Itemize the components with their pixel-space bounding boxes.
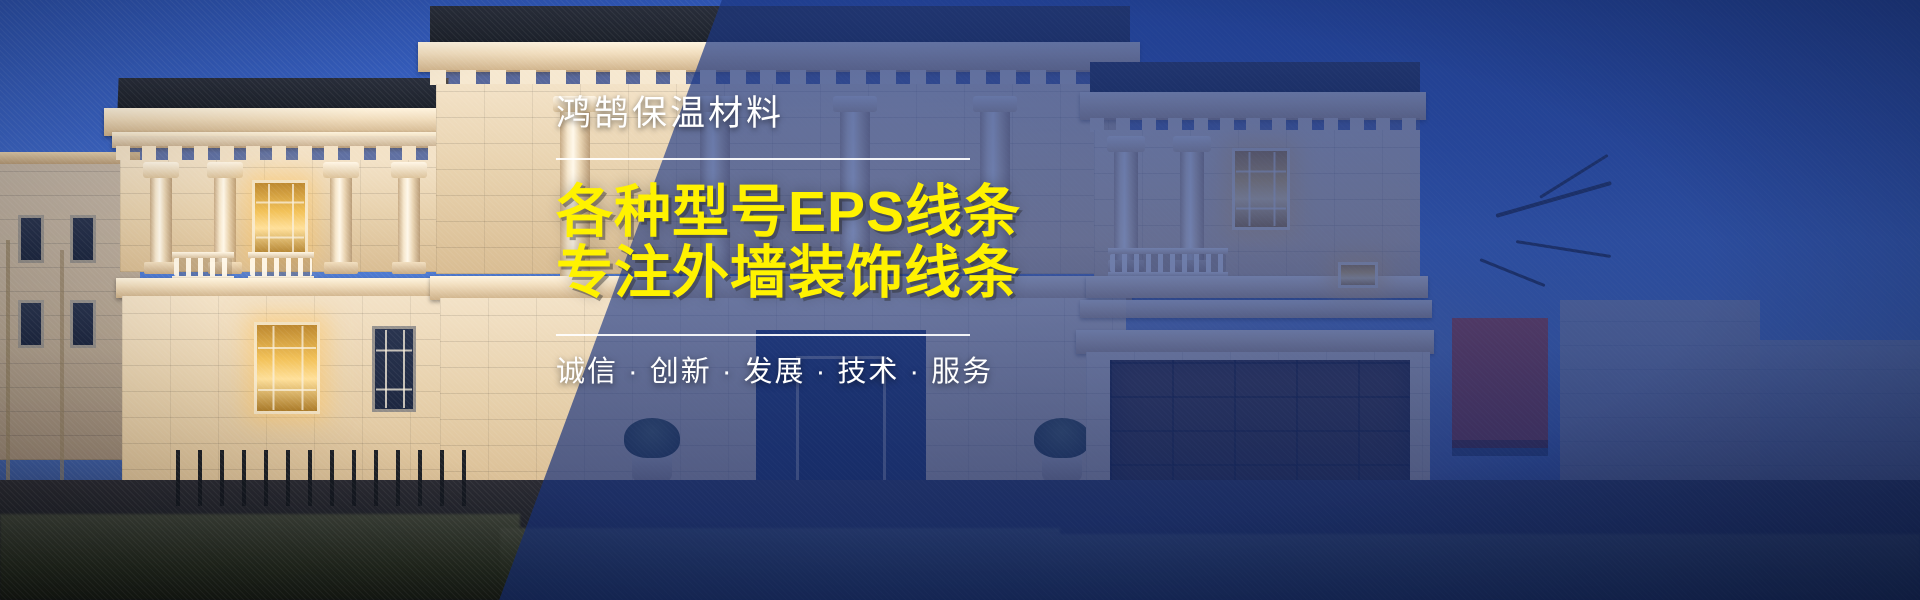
scaffold-pole-1 xyxy=(6,240,10,490)
shrub-right xyxy=(1034,418,1090,458)
right-wing-window-far xyxy=(1338,262,1378,288)
shrub-left xyxy=(624,418,680,458)
left-wing-mid-band xyxy=(116,278,454,298)
right-wing-upper-window-1 xyxy=(1232,148,1290,230)
far-right-structure xyxy=(1560,300,1760,490)
trailer-shadow xyxy=(1452,440,1548,456)
garage-door xyxy=(1110,360,1410,500)
right-wing-column-2 xyxy=(1180,150,1204,262)
window-mullion-grid xyxy=(1236,152,1286,226)
balustrade-posts xyxy=(250,258,312,276)
far-right-structure-2 xyxy=(1760,340,1920,490)
foreground-fence xyxy=(176,450,476,506)
left-wing-lower-window-1 xyxy=(254,322,320,414)
window-mullion-grid xyxy=(256,184,304,254)
left-wing-column-4 xyxy=(398,176,420,264)
left-wing-dentils xyxy=(116,146,452,160)
right-wing-cornice-top xyxy=(1080,92,1426,120)
window-mullion-grid xyxy=(376,330,412,408)
right-wing-mid-band-3 xyxy=(1076,330,1434,354)
distant-window-3 xyxy=(18,300,44,348)
right-wing-mid-band-2 xyxy=(1080,300,1432,318)
center-block-dentils xyxy=(430,70,1130,85)
headline-line-2: 专注外墙装饰线条 xyxy=(556,243,1076,304)
banner-content: 鸿鹄保温材料 各种型号EPS线条 专注外墙装饰线条 诚信 · 创新 · 发展 ·… xyxy=(556,96,1076,387)
left-wing-column-1 xyxy=(150,176,172,264)
hedge-center xyxy=(500,528,1060,600)
left-wing-lower-window-2 xyxy=(372,326,416,412)
balustrade-posts xyxy=(1110,254,1226,272)
tree-branch-4 xyxy=(1479,258,1545,287)
center-block-roof xyxy=(430,6,1130,46)
tagline: 诚信 · 创新 · 发展 · 技术 · 服务 xyxy=(556,358,1076,387)
hedge-right xyxy=(1040,534,1920,600)
right-wing-column-1 xyxy=(1114,150,1138,262)
right-wing-roof xyxy=(1090,62,1420,96)
brand-name: 鸿鹄保温材料 xyxy=(556,96,1076,131)
left-wing-upper-window-1 xyxy=(252,180,308,258)
promo-banner: 鸿鹄保温材料 各种型号EPS线条 专注外墙装饰线条 诚信 · 创新 · 发展 ·… xyxy=(0,0,1920,600)
red-trailer xyxy=(1452,318,1548,448)
left-wing-column-2 xyxy=(214,176,236,264)
hedge-left xyxy=(0,514,520,600)
divider-bottom xyxy=(556,334,970,336)
divider-top xyxy=(556,158,970,160)
headline-block: 各种型号EPS线条 专注外墙装饰线条 xyxy=(556,182,1076,304)
distant-window-2 xyxy=(70,215,96,263)
left-wing-roof xyxy=(117,78,448,112)
balustrade-posts xyxy=(174,258,232,276)
distant-window-4 xyxy=(70,300,96,348)
distant-window-1 xyxy=(18,215,44,263)
window-mullion-grid xyxy=(258,326,316,410)
right-wing-upper-balustrade xyxy=(1108,248,1228,278)
scaffold-pole-2 xyxy=(60,250,64,490)
tree-branch-2 xyxy=(1516,240,1611,258)
headline-line-1: 各种型号EPS线条 xyxy=(556,182,1076,243)
left-wing-column-3 xyxy=(330,176,352,264)
center-block-cornice xyxy=(418,42,1140,72)
